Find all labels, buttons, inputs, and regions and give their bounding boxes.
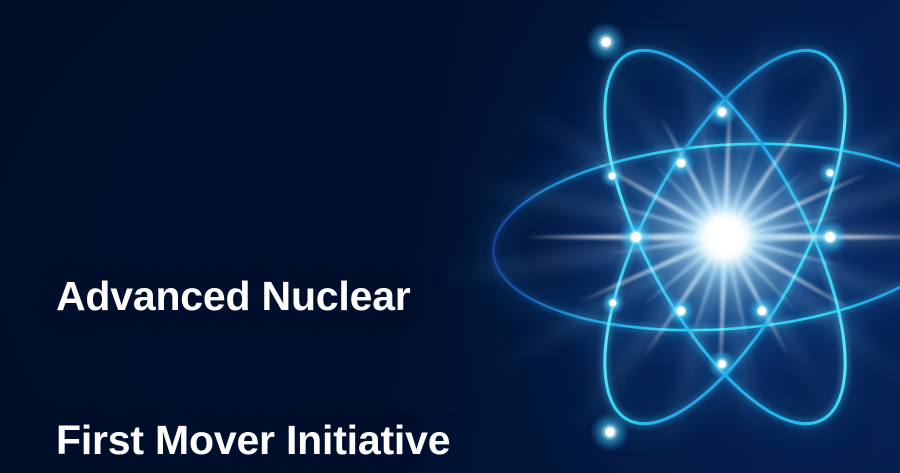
- banner-hero: Advanced Nuclear First Mover Initiative: [0, 0, 900, 473]
- page-title: Advanced Nuclear First Mover Initiative: [56, 176, 450, 473]
- page-title-line-1: Advanced Nuclear: [56, 272, 450, 320]
- page-title-line-2: First Mover Initiative: [56, 416, 450, 464]
